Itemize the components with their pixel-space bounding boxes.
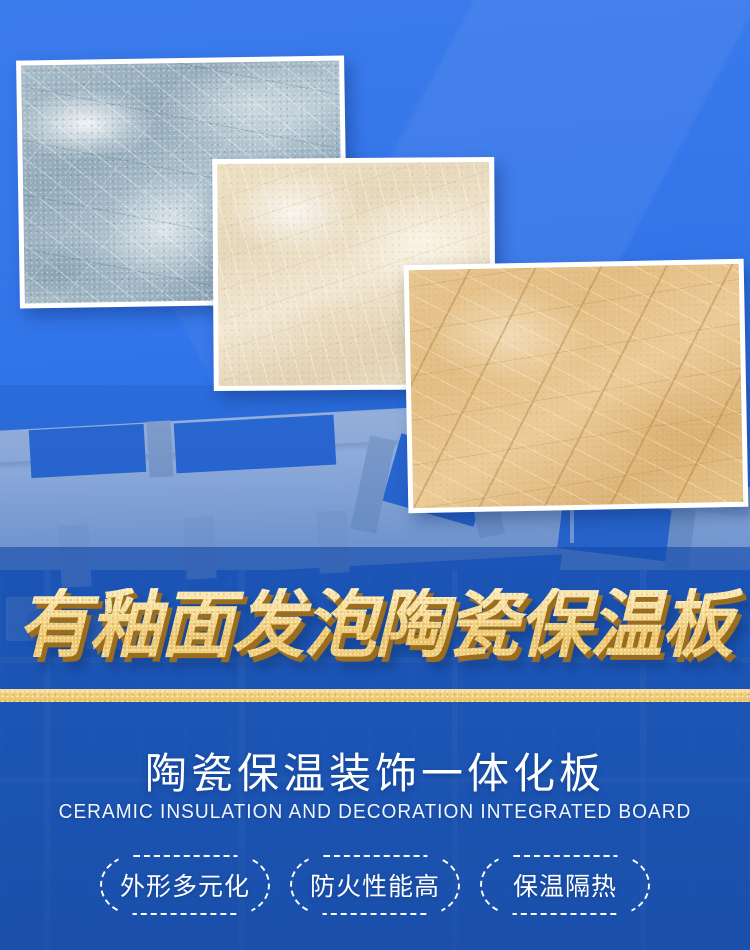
feature-tag-list: 外形多元化 防火性能高 保温隔热 [0, 855, 750, 915]
feature-tag-3[interactable]: 保温隔热 [480, 855, 650, 915]
feature-tag-2-label: 防火性能高 [310, 867, 440, 903]
main-title: 有釉面发泡陶瓷保温板 [8, 588, 743, 662]
subtitle-english: CERAMIC INSULATION AND DECORATION INTEGR… [26, 800, 724, 824]
feature-tag-1-label: 外形多元化 [120, 867, 250, 903]
tile-sample-3 [404, 259, 749, 513]
gold-divider-bar [0, 689, 750, 702]
feature-tag-1[interactable]: 外形多元化 [100, 855, 270, 915]
product-banner: 有釉面发泡陶瓷保温板 陶瓷保温装饰一体化板 CERAMIC INSULATION… [0, 0, 750, 950]
feature-tag-2[interactable]: 防火性能高 [290, 855, 460, 915]
feature-tag-3-label: 保温隔热 [513, 867, 617, 903]
subtitle-chinese: 陶瓷保温装饰一体化板 [0, 740, 750, 801]
tile-sample-3-surface [409, 264, 744, 508]
marble-speckle [409, 264, 744, 508]
